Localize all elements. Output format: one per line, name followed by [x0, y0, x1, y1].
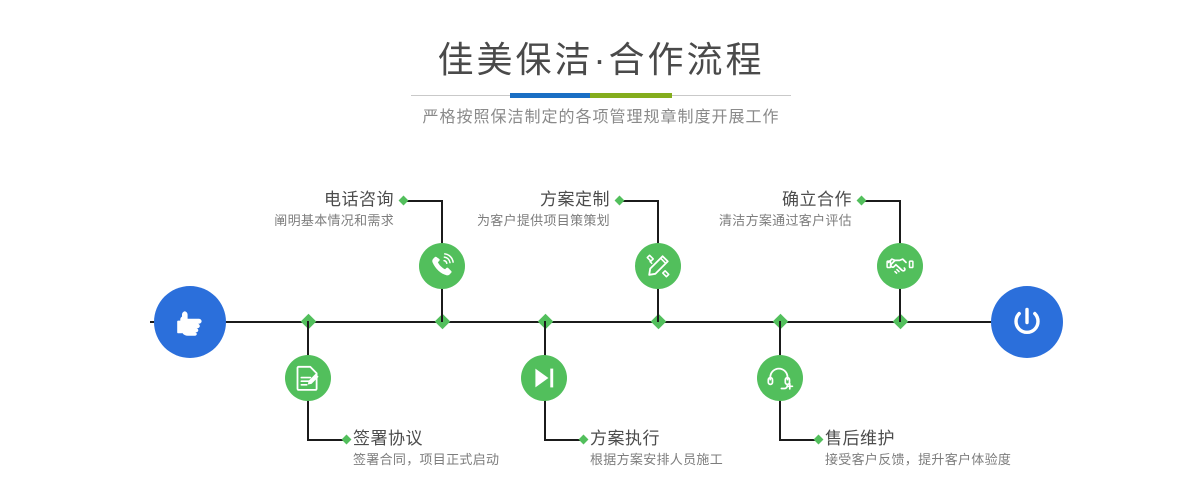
step-title: 方案定制 [370, 189, 610, 211]
step-desc: 阐明基本情况和需求 [150, 211, 394, 231]
label-marker-exec [579, 435, 589, 445]
step-icon-plan-design[interactable] [635, 243, 681, 289]
page-title: 佳美保洁·合作流程 [0, 38, 1202, 82]
step-title: 方案执行 [590, 428, 723, 450]
connector-horizontal-exec [544, 439, 582, 441]
phone-call-icon [428, 252, 456, 280]
timeline-end-node[interactable] [991, 286, 1063, 358]
step-desc: 签署合同，项目正式启动 [353, 450, 499, 470]
step-label-sign: 签署协议 签署合同，项目正式启动 [353, 428, 499, 470]
title-divider [411, 93, 791, 98]
timeline-start-node[interactable] [154, 286, 226, 358]
step-title: 售后维护 [825, 428, 1011, 450]
step-title: 电话咨询 [150, 189, 394, 211]
hand-pointing-right-icon [170, 302, 210, 342]
step-label-phone: 电话咨询 阐明基本情况和需求 [150, 189, 394, 231]
step-icon-execute[interactable] [521, 355, 567, 401]
label-marker-support [814, 435, 824, 445]
step-desc: 根据方案安排人员施工 [590, 450, 723, 470]
step-desc: 接受客户反馈，提升客户体验度 [825, 450, 1011, 470]
pencil-ruler-icon [644, 252, 672, 280]
handshake-icon [886, 252, 914, 280]
step-desc: 清洁方案通过客户评估 [610, 211, 852, 231]
page-subtitle: 严格按照保洁制定的各项管理规章制度开展工作 [0, 106, 1202, 130]
play-execute-icon [530, 364, 558, 392]
step-icon-contract-sign[interactable] [285, 355, 331, 401]
connector-horizontal-sign [307, 439, 345, 441]
timeline-axis [150, 321, 1055, 323]
step-icon-support[interactable] [757, 355, 803, 401]
step-label-plan: 方案定制 为客户提供项目策策划 [370, 189, 610, 231]
step-desc: 为客户提供项目策策划 [370, 211, 610, 231]
connector-horizontal-coop [863, 200, 900, 202]
step-label-exec: 方案执行 根据方案安排人员施工 [590, 428, 723, 470]
step-title: 签署协议 [353, 428, 499, 450]
step-title: 确立合作 [610, 189, 852, 211]
flow-diagram-page: 佳美保洁·合作流程 严格按照保洁制定的各项管理规章制度开展工作 [0, 0, 1202, 502]
headset-support-icon [766, 364, 794, 392]
step-icon-handshake[interactable] [877, 243, 923, 289]
divider-segment-green [590, 93, 672, 98]
step-label-support: 售后维护 接受客户反馈，提升客户体验度 [825, 428, 1011, 470]
contract-sign-icon [294, 364, 322, 392]
label-marker-sign [342, 435, 352, 445]
step-icon-phone-call[interactable] [419, 243, 465, 289]
connector-horizontal-support [779, 439, 817, 441]
divider-segment-blue [510, 93, 590, 98]
step-label-coop: 确立合作 清洁方案通过客户评估 [610, 189, 852, 231]
power-icon [1007, 302, 1047, 342]
label-marker-coop [857, 196, 867, 206]
